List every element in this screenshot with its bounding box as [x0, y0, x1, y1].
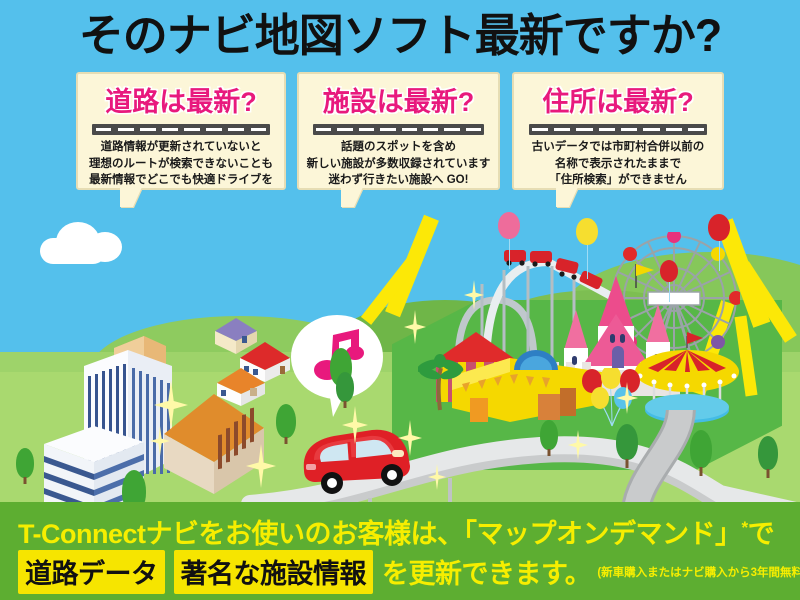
- red-car: [288, 420, 418, 500]
- road-divider-icon: [529, 124, 708, 135]
- road-divider-icon: [92, 124, 269, 135]
- tree-3: [276, 404, 296, 444]
- callout-road-tail: [120, 187, 142, 207]
- tree-9: [540, 420, 558, 456]
- banner-line-1: T-Connectナビをお使いのお客様は、「マップオンデマンド」*で: [18, 512, 774, 551]
- balloon-red-small: [660, 260, 678, 282]
- tree-5: [616, 424, 638, 468]
- balloon-pink: [498, 212, 520, 239]
- bottom-banner: T-Connectナビをお使いのお客様は、「マップオンデマンド」*で 道路データ…: [0, 502, 800, 600]
- tree-6: [690, 430, 712, 476]
- balloon-yellow: [576, 218, 598, 245]
- banner-fineprint: (新車購入またはナビ購入から3年間無料): [597, 564, 800, 580]
- callout-facility: 施設は最新? 話題のスポットを含め 新しい施設が多数収録されています 迷わず行き…: [297, 72, 500, 190]
- tree-8: [16, 448, 34, 484]
- callout-road-line-3: 最新情報でどこでも快適ドライブを: [84, 172, 278, 189]
- callout-facility-line-2: 新しい施設が多数収録されています: [305, 156, 492, 173]
- banner-line-2-suffix: を更新できます。: [382, 552, 591, 591]
- tree-7: [758, 436, 778, 478]
- callout-address-line-1: 古いデータでは市町村合併以前の: [520, 139, 716, 156]
- callout-address-title: 住所は最新?: [514, 80, 722, 119]
- advertisement-poster: そのナビ地図ソフト最新ですか? 道路は最新? 道路情報が更新されていないと 理想…: [0, 0, 800, 600]
- tree-2: [336, 372, 354, 408]
- callout-facility-tail: [341, 187, 363, 207]
- page-title: そのナビ地図ソフト最新ですか?: [0, 8, 800, 64]
- callout-road-title: 道路は最新?: [78, 80, 284, 119]
- callout-address-line-2: 名称で表示されたままで: [520, 156, 716, 173]
- tag-road-data: 道路データ: [18, 550, 165, 594]
- banner-line-1-prefix: T-Connectナビをお使いのお客様は、「マップオンデマンド」: [18, 519, 742, 549]
- callout-road-line-2: 理想のルートが検索できないことも: [84, 156, 278, 173]
- callout-facility-line-3: 迷わず行きたい施設へ GO!: [305, 172, 492, 189]
- banner-line-1-suffix: で: [748, 519, 775, 549]
- house-purple-roof: [212, 316, 260, 356]
- tag-facility-info: 著名な施設情報: [174, 550, 374, 594]
- balloon-red-top-right: [708, 214, 730, 241]
- callout-address-line-3: 「住所検索」ができません: [520, 172, 716, 189]
- callout-address-tail: [556, 187, 578, 207]
- blue-dome-ride: [512, 348, 560, 374]
- callout-road: 道路は最新? 道路情報が更新されていないと 理想のルートが検索できないことも 最…: [76, 72, 286, 190]
- callout-facility-title: 施設は最新?: [299, 80, 498, 119]
- callout-address: 住所は最新? 古いデータでは市町村合併以前の 名称で表示されたままで 「住所検索…: [512, 72, 724, 190]
- callout-road-line-1: 道路情報が更新されていないと: [84, 139, 278, 156]
- banner-line-2: 道路データ 著名な施設情報 を更新できます。 (新車購入またはナビ購入から3年間…: [18, 550, 800, 594]
- road-divider-icon: [313, 124, 484, 135]
- callout-facility-line-1: 話題のスポットを含め: [305, 139, 492, 156]
